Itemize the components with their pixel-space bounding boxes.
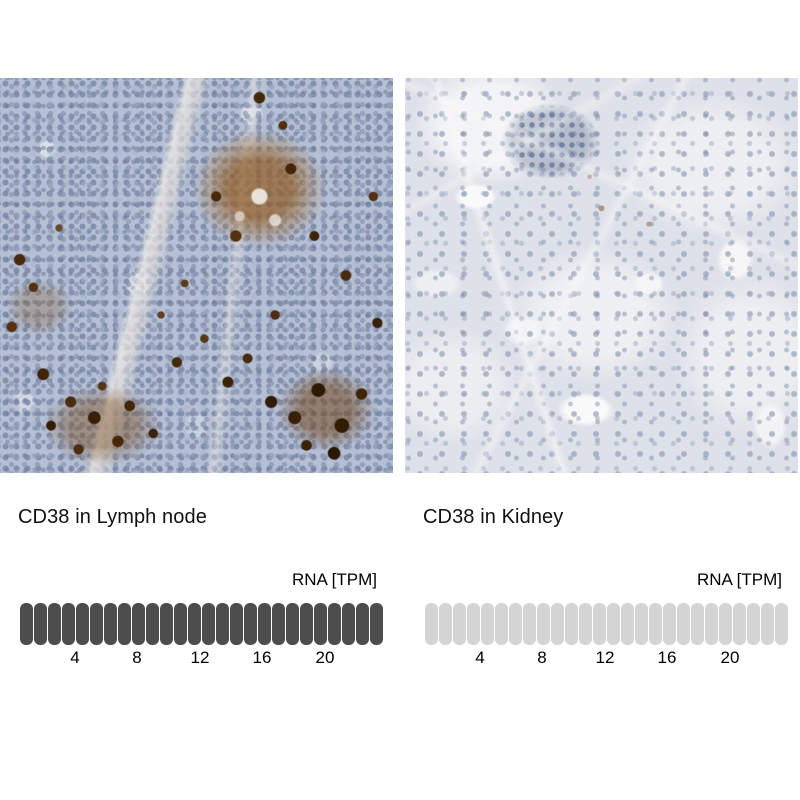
rna-bar-segment bbox=[565, 603, 578, 645]
rna-bar-segment bbox=[160, 603, 173, 645]
rna-tick-labels: 48121620 bbox=[425, 648, 785, 670]
rna-bar-segment bbox=[705, 603, 718, 645]
rna-bar-segment bbox=[621, 603, 634, 645]
rna-bar-segment bbox=[439, 603, 452, 645]
rna-bar-segment bbox=[607, 603, 620, 645]
rna-bar-segment bbox=[761, 603, 774, 645]
rna-bar-segment bbox=[244, 603, 257, 645]
rna-tick-label: 12 bbox=[596, 648, 615, 668]
rna-tick-label: 20 bbox=[721, 648, 740, 668]
rna-bar-segment bbox=[216, 603, 229, 645]
rna-tick-label: 8 bbox=[132, 648, 141, 668]
rna-bar-segment bbox=[174, 603, 187, 645]
rna-tick-label: 12 bbox=[191, 648, 210, 668]
rna-bar-segment bbox=[300, 603, 313, 645]
rna-gauge-kidney: RNA [TPM] 48121620 bbox=[405, 570, 798, 670]
rna-bar-segment bbox=[132, 603, 145, 645]
rna-bar-segment bbox=[90, 603, 103, 645]
caption-lymph-node: CD38 in Lymph node bbox=[18, 506, 207, 529]
rna-bar-segment bbox=[286, 603, 299, 645]
rna-tick-label: 8 bbox=[537, 648, 546, 668]
rna-bar-segment bbox=[467, 603, 480, 645]
rna-bar-segment bbox=[425, 603, 438, 645]
rna-tick-label: 4 bbox=[475, 648, 484, 668]
rna-bar-segment bbox=[691, 603, 704, 645]
rna-gauge-lymph-node: RNA [TPM] 48121620 bbox=[0, 570, 393, 670]
rna-bar-segment bbox=[76, 603, 89, 645]
rna-bar-segment bbox=[551, 603, 564, 645]
rna-bar-segment bbox=[663, 603, 676, 645]
rna-tick-labels: 48121620 bbox=[20, 648, 380, 670]
panel-lymph-node: CD38 in Lymph node RNA [TPM] 48121620 bbox=[0, 0, 393, 800]
rna-bar-segment bbox=[342, 603, 355, 645]
rna-bar-segment bbox=[495, 603, 508, 645]
rna-bar-segment bbox=[719, 603, 732, 645]
image-grain bbox=[405, 78, 798, 473]
rna-bar-segment bbox=[635, 603, 648, 645]
rna-bar-segment bbox=[202, 603, 215, 645]
rna-bar-segment bbox=[314, 603, 327, 645]
rna-axis-label: RNA [TPM] bbox=[292, 570, 377, 590]
rna-bar-segment bbox=[272, 603, 285, 645]
rna-bar-segment bbox=[733, 603, 746, 645]
rna-bar-segment bbox=[230, 603, 243, 645]
caption-kidney: CD38 in Kidney bbox=[423, 506, 563, 529]
rna-bar-segment bbox=[453, 603, 466, 645]
rna-bar-segment bbox=[62, 603, 75, 645]
rna-bar-segment bbox=[328, 603, 341, 645]
rna-bar-segment bbox=[775, 603, 788, 645]
rna-bar-segment bbox=[523, 603, 536, 645]
micrograph-lymph-node[interactable] bbox=[0, 78, 393, 473]
rna-bar-strip[interactable] bbox=[425, 603, 788, 645]
rna-bar-segment bbox=[579, 603, 592, 645]
rna-bar-segment bbox=[20, 603, 33, 645]
rna-bar-segment bbox=[356, 603, 369, 645]
rna-bar-segment bbox=[188, 603, 201, 645]
panel-kidney: CD38 in Kidney RNA [TPM] 48121620 bbox=[405, 0, 798, 800]
rna-tick-label: 16 bbox=[253, 648, 272, 668]
rna-axis-label: RNA [TPM] bbox=[697, 570, 782, 590]
rna-bar-strip[interactable] bbox=[20, 603, 383, 645]
rna-tick-label: 20 bbox=[316, 648, 335, 668]
rna-tick-label: 16 bbox=[658, 648, 677, 668]
rna-bar-segment bbox=[649, 603, 662, 645]
micrograph-kidney[interactable] bbox=[405, 78, 798, 473]
image-grain bbox=[0, 78, 393, 473]
rna-bar-segment bbox=[537, 603, 550, 645]
rna-bar-segment bbox=[258, 603, 271, 645]
rna-bar-segment bbox=[104, 603, 117, 645]
rna-bar-segment bbox=[370, 603, 383, 645]
rna-bar-segment bbox=[48, 603, 61, 645]
rna-tick-label: 4 bbox=[70, 648, 79, 668]
rna-bar-segment bbox=[481, 603, 494, 645]
rna-bar-segment bbox=[146, 603, 159, 645]
rna-bar-segment bbox=[509, 603, 522, 645]
rna-bar-segment bbox=[747, 603, 760, 645]
rna-bar-segment bbox=[593, 603, 606, 645]
rna-bar-segment bbox=[34, 603, 47, 645]
rna-bar-segment bbox=[118, 603, 131, 645]
rna-bar-segment bbox=[677, 603, 690, 645]
figure-root: CD38 in Lymph node RNA [TPM] 48121620 CD… bbox=[0, 0, 800, 800]
